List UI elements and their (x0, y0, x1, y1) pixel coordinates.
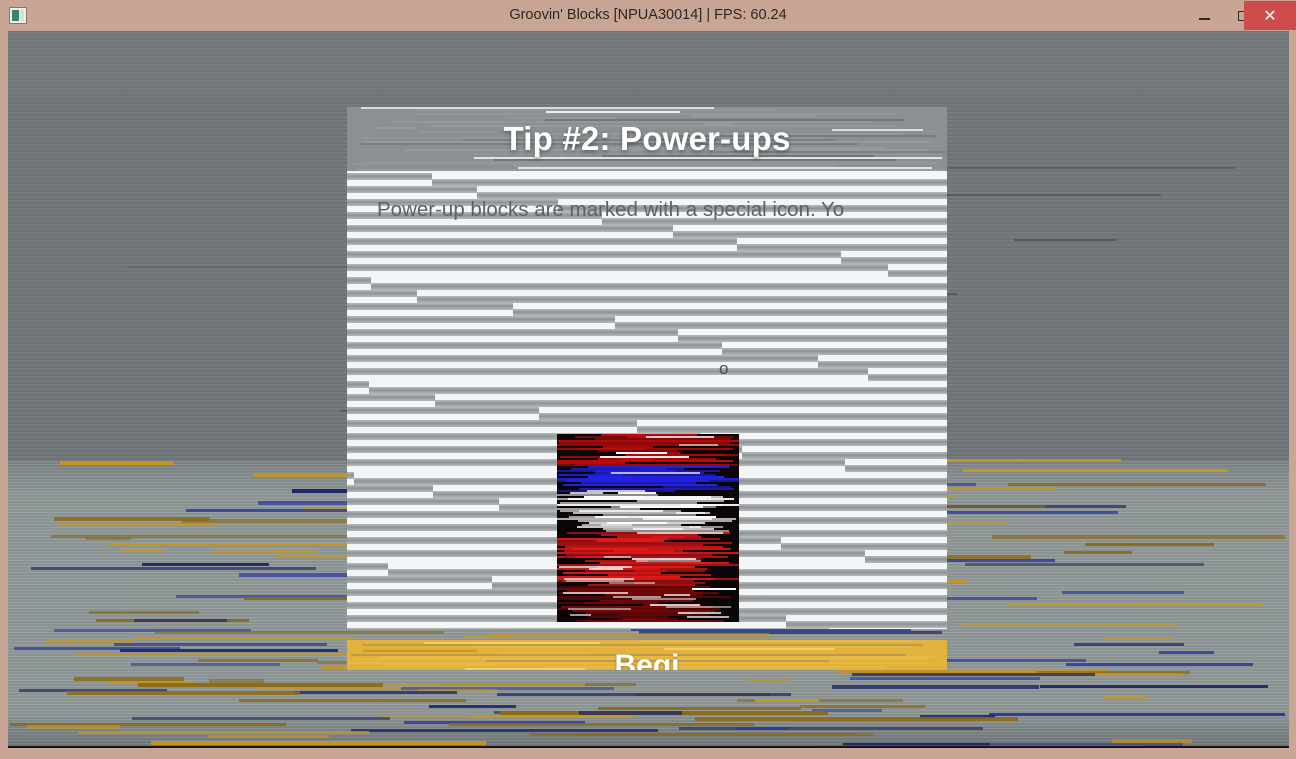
window-title: Groovin' Blocks [NPUA30014] | FPS: 60.24 (0, 0, 1296, 31)
application-window: Groovin' Blocks [NPUA30014] | FPS: 60.24… (0, 0, 1296, 759)
dialog-title: Tip #2: Power-ups (347, 107, 947, 171)
begin-button[interactable]: Begi (347, 640, 947, 670)
window-frame-bottom (8, 746, 1289, 748)
tip-dialog: Tip #2: Power-ups Power-up blocks are ma… (347, 107, 947, 670)
minimize-icon (1199, 18, 1210, 20)
close-icon: ✕ (1263, 8, 1276, 24)
dialog-body: Power-up blocks are marked with a specia… (347, 171, 947, 629)
window-titlebar[interactable]: Groovin' Blocks [NPUA30014] | FPS: 60.24… (0, 0, 1296, 31)
dialog-body-text: Power-up blocks are marked with a specia… (377, 197, 907, 223)
close-button[interactable]: ✕ (1244, 1, 1296, 30)
game-viewport[interactable]: Tip #2: Power-ups Power-up blocks are ma… (8, 31, 1289, 746)
powerup-preview-image (557, 434, 739, 622)
dialog-header: Tip #2: Power-ups (347, 107, 947, 171)
glitch-artifact-char: o (719, 359, 728, 379)
minimize-button[interactable] (1184, 0, 1224, 31)
dialog-footer[interactable]: Begi (347, 640, 947, 670)
dialog-text-clip: Power-up blocks are marked with a specia… (377, 197, 907, 251)
